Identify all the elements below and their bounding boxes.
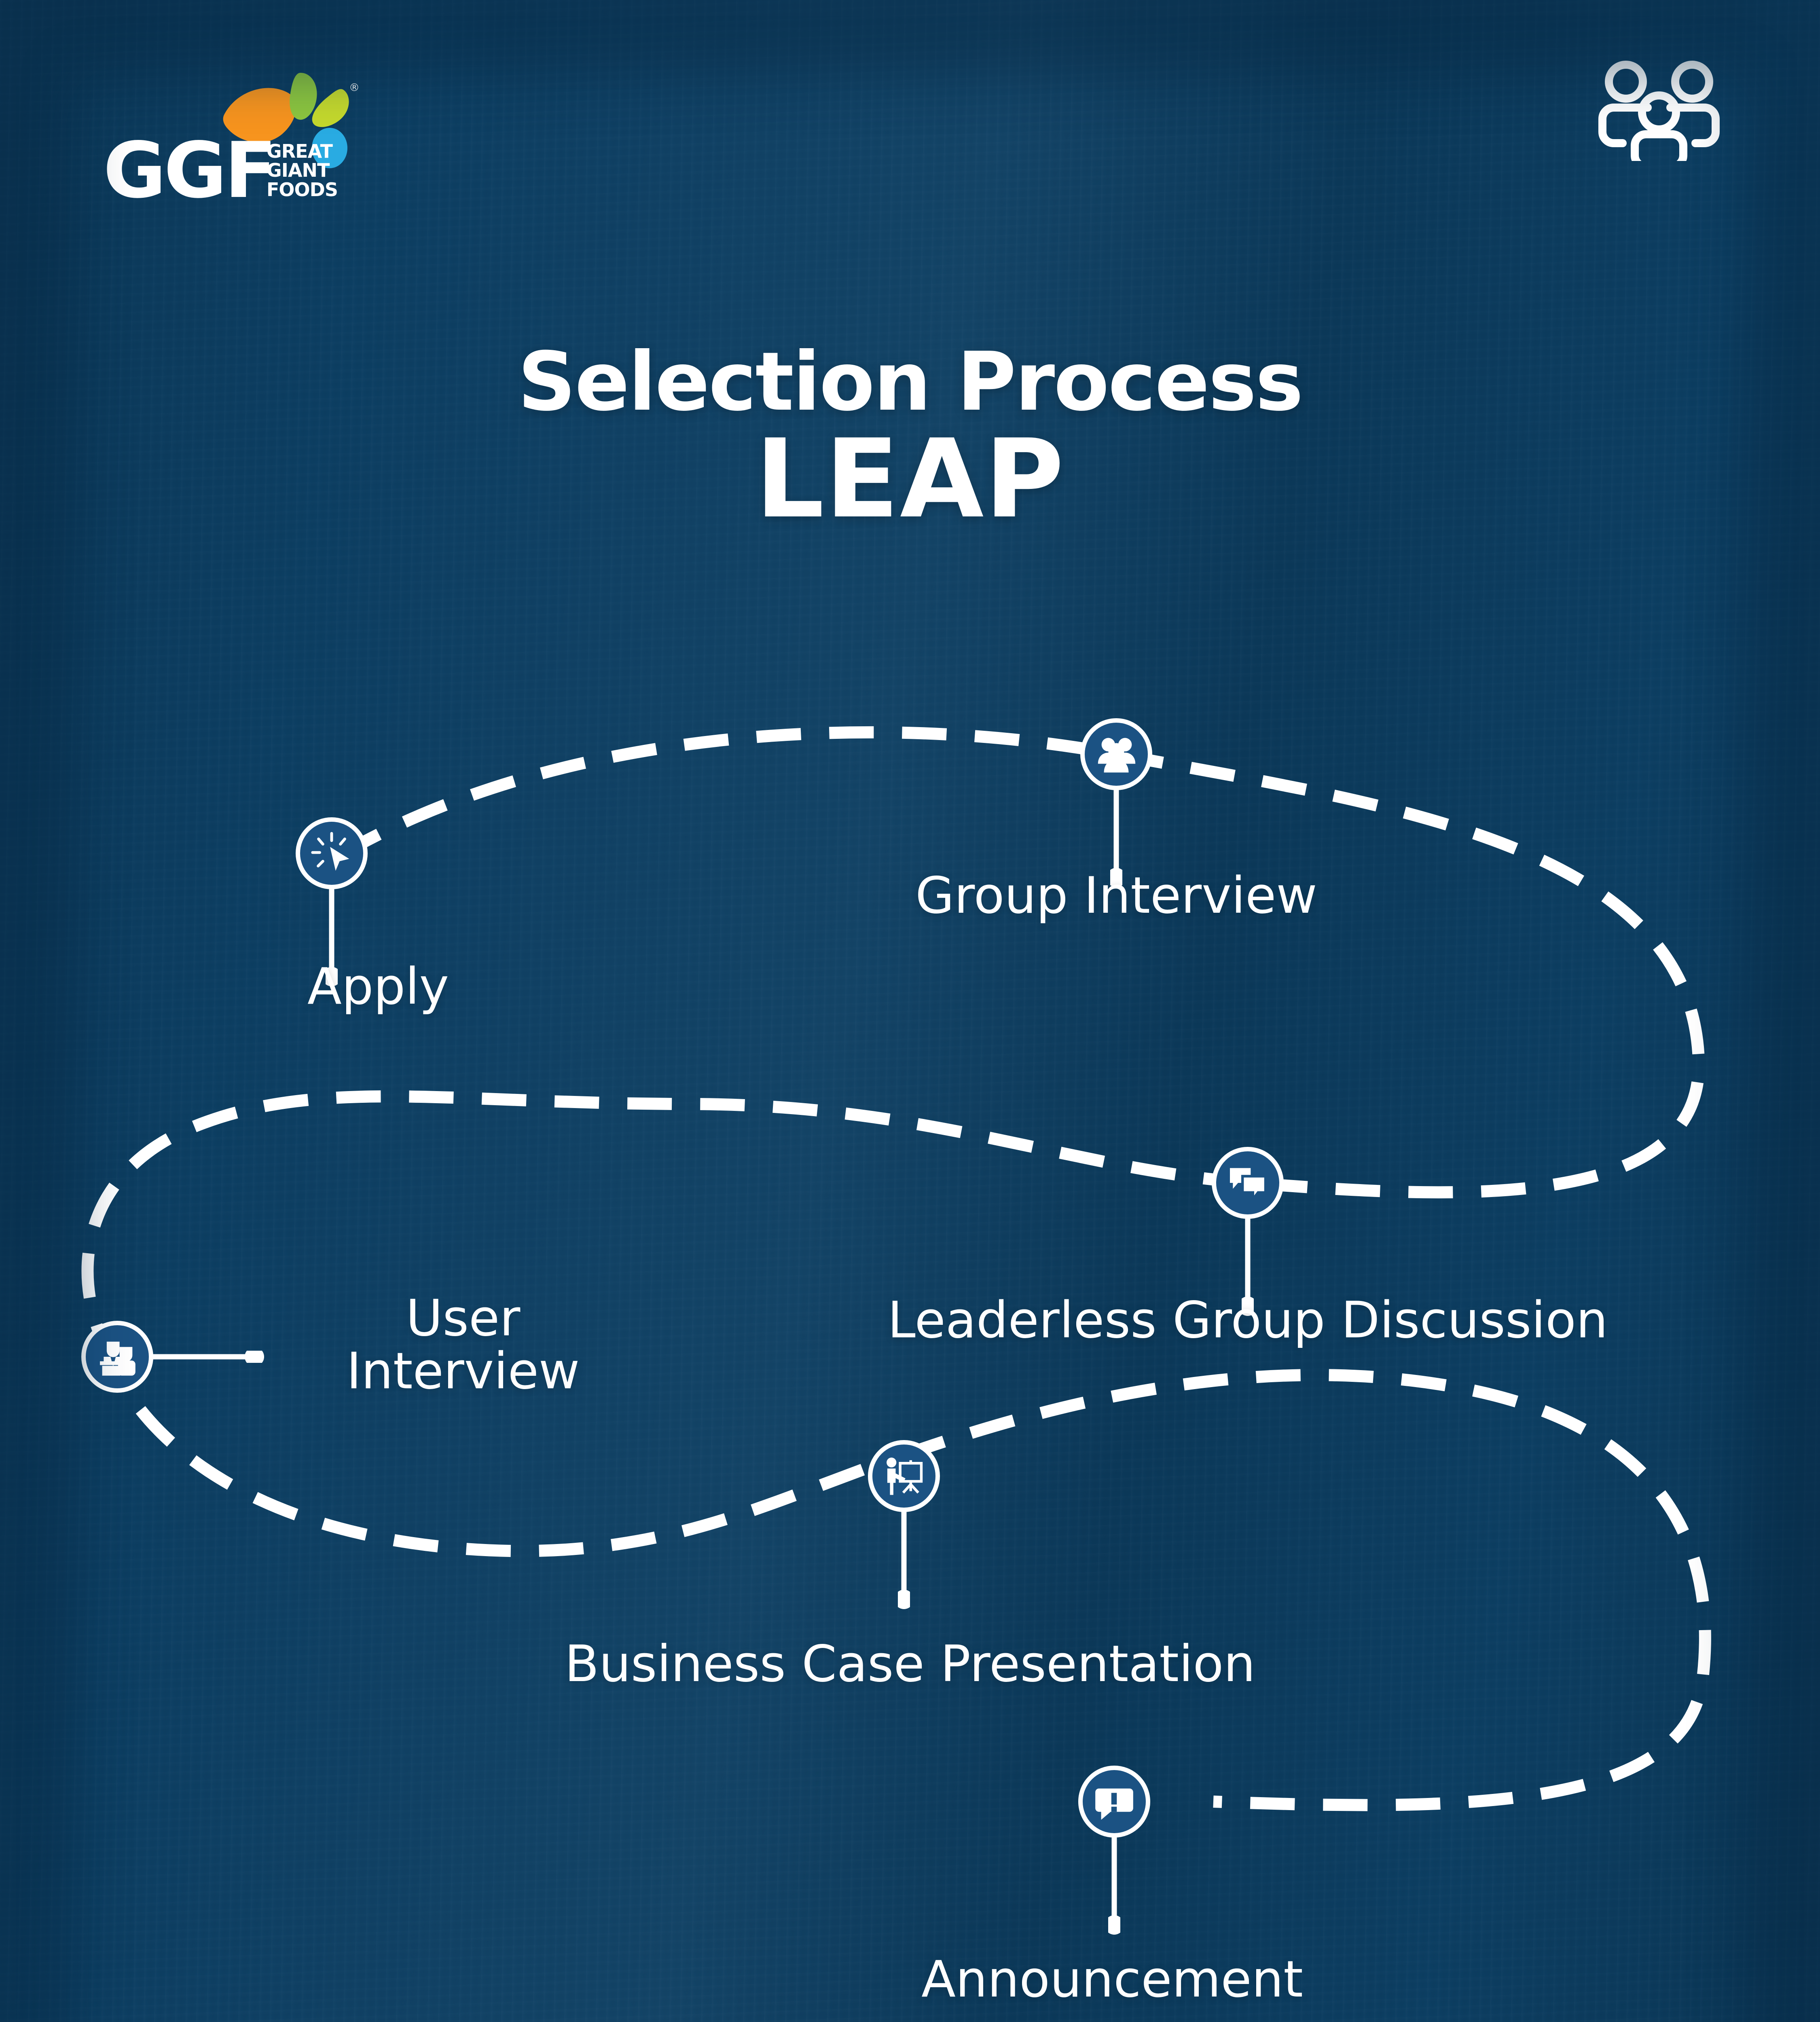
step-node-user-interview[interactable] bbox=[81, 1321, 153, 1393]
step-label-group-interview: Group Interview bbox=[793, 869, 1440, 922]
step-node-apply[interactable] bbox=[296, 817, 368, 889]
flow-segment-upper bbox=[340, 732, 1699, 1192]
step-node-announcement[interactable] bbox=[1078, 1766, 1150, 1838]
step-label-user-interview: User Interview bbox=[255, 1292, 671, 1398]
step-marker-circle[interactable] bbox=[81, 1321, 153, 1393]
step-marker-circle[interactable] bbox=[1212, 1147, 1284, 1219]
poster-canvas: GGF GREAT GIANT FOODS ® Selection Proces… bbox=[0, 0, 1820, 2022]
flow-segment-lower bbox=[902, 1375, 1705, 1805]
title-line-secondary: LEAP bbox=[0, 425, 1820, 533]
step-marker-circle[interactable] bbox=[1080, 718, 1152, 790]
step-label-apply: Apply bbox=[237, 960, 520, 1013]
step-marker-circle[interactable] bbox=[296, 817, 368, 889]
title-line-primary: Selection Process bbox=[0, 342, 1820, 423]
step-node-business-case-presentation[interactable] bbox=[868, 1440, 940, 1512]
step-label-announcement: Announcement bbox=[688, 1953, 1537, 2006]
step-label-leaderless-group-discussion: Leaderless Group Discussion bbox=[688, 1294, 1808, 1347]
chat-bubbles-icon bbox=[1225, 1161, 1270, 1205]
people-group-icon bbox=[1594, 60, 1724, 161]
cursor-click-icon bbox=[308, 829, 356, 877]
registered-trademark-icon: ® bbox=[349, 82, 360, 94]
interview-desk-icon bbox=[95, 1334, 140, 1379]
step-stem-announcement bbox=[1108, 1837, 1120, 1938]
ggf-tagline: GREAT GIANT FOODS bbox=[267, 142, 362, 200]
step-label-business-case-presentation: Business Case Presentation bbox=[291, 1638, 1529, 1691]
step-marker-circle[interactable] bbox=[1078, 1766, 1150, 1838]
step-stem-business-case-presentation bbox=[898, 1511, 910, 1612]
step-marker-circle[interactable] bbox=[868, 1440, 940, 1512]
ggf-wordmark: GGF bbox=[103, 139, 275, 202]
presenter-board-icon bbox=[881, 1453, 927, 1499]
step-node-leaderless-group-discussion[interactable] bbox=[1212, 1147, 1284, 1219]
announcement-bubble-icon bbox=[1092, 1780, 1136, 1823]
ggf-logo: GGF GREAT GIANT FOODS ® bbox=[103, 69, 362, 202]
people-three-icon bbox=[1092, 730, 1140, 778]
step-node-group-interview[interactable] bbox=[1080, 718, 1152, 790]
page-title: Selection Process LEAP bbox=[0, 342, 1820, 533]
